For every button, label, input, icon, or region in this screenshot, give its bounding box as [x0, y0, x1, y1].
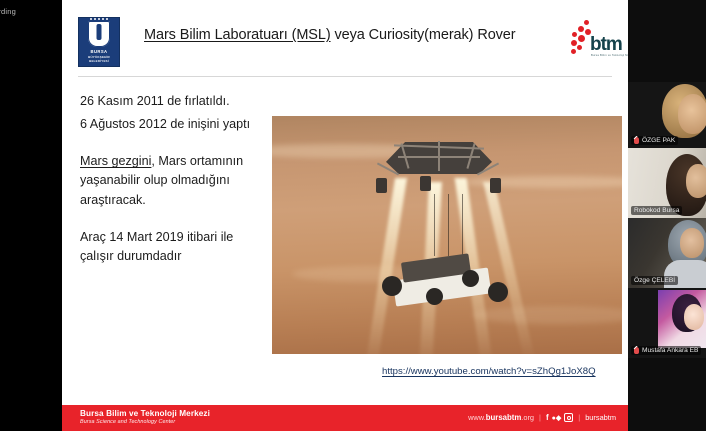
- slide-footer: Bursa Bilim ve Teknoloji Merkezi Bursa S…: [62, 405, 628, 431]
- slide-title-underlined: Mars Bilim Laboratuarı (MSL): [144, 27, 331, 43]
- bursa-logo-line1: BURSA: [91, 49, 108, 54]
- btm-subtitle: Bursa Bilim ve Teknoloji Merkezi: [591, 54, 628, 57]
- btm-logo: btm Bursa Bilim ve Teknoloji Merkezi: [570, 18, 622, 64]
- participant-tile-0[interactable]: ÖZGE PAK: [628, 82, 706, 148]
- mic-muted-icon-0: [634, 137, 639, 144]
- header-divider: [78, 76, 612, 77]
- participant-label-3: Mustafa Ankara EB: [642, 347, 698, 354]
- footer-separator-2: |: [578, 413, 580, 422]
- zoom-meeting-window: cording BURSA BÜYÜKŞEHİR BELEDİYESİ Mars…: [0, 0, 706, 431]
- footer-separator-1: |: [539, 413, 541, 422]
- instagram-icon[interactable]: [564, 413, 573, 422]
- body-line-1: 26 Kasım 2011 de fırlatıldı.: [80, 92, 270, 111]
- facebook-icon[interactable]: f: [546, 413, 549, 422]
- slide-header: BURSA BÜYÜKŞEHİR BELEDİYESİ Mars Bilim L…: [62, 0, 628, 77]
- shared-screen-slide: BURSA BÜYÜKŞEHİR BELEDİYESİ Mars Bilim L…: [62, 0, 628, 431]
- participant-name-0: ÖZGE PAK: [631, 136, 678, 145]
- bursa-logo-line3: BELEDİYESİ: [88, 59, 110, 63]
- participant-tile-3[interactable]: Mustafa Ankara EB: [628, 288, 706, 358]
- participant-filmstrip[interactable]: ÖZGE PAK Robokod Bursa Özge ÇELEBİ: [628, 0, 706, 431]
- body-paragraph-2: Mars gezgini, Mars ortamının yaşanabilir…: [80, 152, 270, 209]
- bursa-logo-text: BURSA BÜYÜKŞEHİR BELEDİYESİ: [88, 49, 110, 63]
- footer-social-icons: f ●◆: [546, 413, 573, 422]
- mars-gezgini-underlined: Mars gezgini: [80, 154, 151, 168]
- footer-website: www.bursabtm.org: [468, 413, 534, 422]
- slide-title: Mars Bilim Laboratuarı (MSL) veya Curios…: [144, 27, 544, 43]
- participant-name-1: Robokod Bursa: [631, 206, 682, 215]
- youtube-link[interactable]: https://www.youtube.com/watch?v=sZhQg1Jo…: [382, 366, 596, 377]
- participant-label-1: Robokod Bursa: [634, 207, 679, 214]
- sky-crane-descent-stage: [364, 134, 514, 196]
- crest-dots: [88, 18, 110, 23]
- footer-org: Bursa Bilim ve Teknoloji Merkezi Bursa S…: [80, 409, 210, 425]
- twitter-icon[interactable]: ●◆: [552, 414, 562, 422]
- slide-body-text: 26 Kasım 2011 de fırlatıldı. 6 Ağustos 2…: [80, 92, 270, 270]
- bursa-buyuksehir-belediyesi-logo: BURSA BÜYÜKŞEHİR BELEDİYESİ: [78, 17, 120, 67]
- filmstrip-top-spacer: [628, 0, 706, 82]
- mic-muted-icon-3: [634, 347, 639, 354]
- footer-title-en: Bursa Science and Technology Center: [80, 419, 210, 425]
- curiosity-rover-vehicle: [380, 248, 512, 310]
- recording-label: cording: [0, 7, 16, 16]
- filmstrip-bottom-spacer: [628, 358, 706, 431]
- participant-tile-2[interactable]: Özge ÇELEBİ: [628, 218, 706, 288]
- btm-wordmark: btm: [590, 35, 622, 54]
- body-line-2: 6 Ağustos 2012 de inişini yaptı: [80, 115, 270, 134]
- participant-label-2: Özge ÇELEBİ: [634, 277, 675, 284]
- bursa-crest-icon: [88, 21, 110, 47]
- participant-name-3: Mustafa Ankara EB: [631, 346, 701, 355]
- footer-links: www.bursabtm.org | f ●◆ | bursabtm: [468, 413, 616, 422]
- footer-social-handle: bursabtm: [585, 413, 616, 422]
- participant-name-2: Özge ÇELEBİ: [631, 276, 678, 285]
- slide-title-rest: veya Curiosity(merak) Rover: [331, 27, 516, 43]
- participant-label-0: ÖZGE PAK: [642, 137, 675, 144]
- footer-title-tr: Bursa Bilim ve Teknoloji Merkezi: [80, 409, 210, 419]
- curiosity-rover-image: [272, 116, 622, 354]
- participant-tile-1[interactable]: Robokod Bursa: [628, 148, 706, 218]
- body-paragraph-3: Araç 14 Mart 2019 itibari ile çalışır du…: [80, 228, 270, 266]
